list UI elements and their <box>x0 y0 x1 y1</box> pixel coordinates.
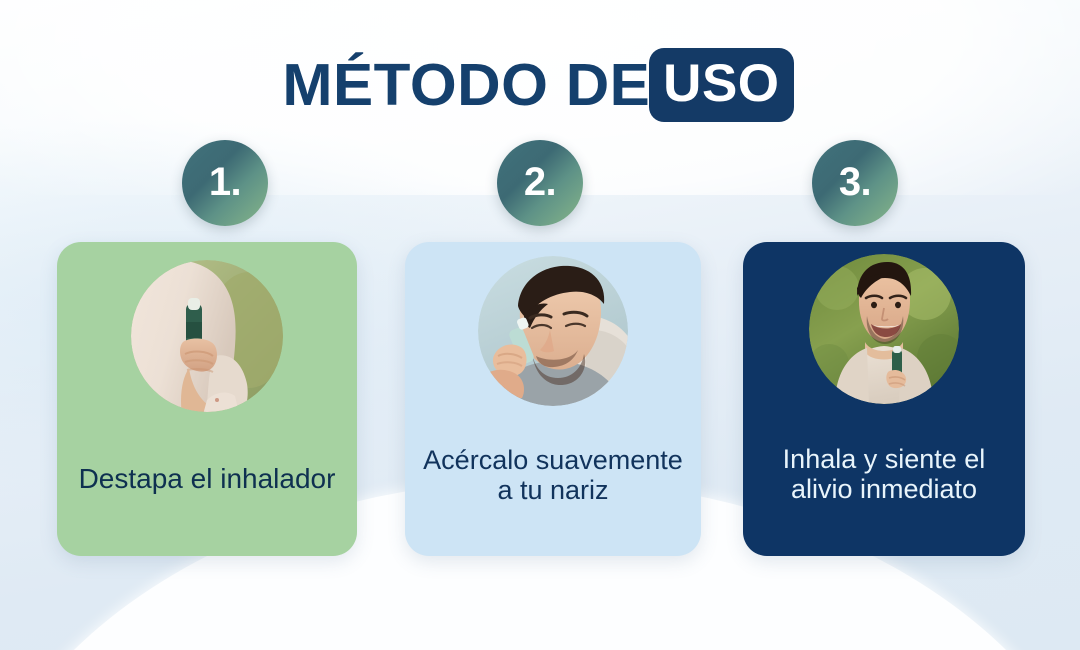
step-caption-2: Acércalo suavemente a tu nariz <box>405 406 701 556</box>
step-caption-1: Destapa el inhalador <box>65 412 350 556</box>
step-number-label-1: 1. <box>209 162 241 204</box>
step-card-1: Destapa el inhalador <box>57 242 357 556</box>
man-inhaling-photo <box>478 256 628 406</box>
infographic-canvas: MÉTODO DE USO 1. 2. 3. <box>0 0 1080 650</box>
step-number-label-2: 2. <box>524 162 556 204</box>
smiling-man-outdoors-photo <box>809 254 959 404</box>
page-title: MÉTODO DE USO <box>0 48 1080 122</box>
hand-holding-inhaler-photo <box>131 260 283 412</box>
title-badge-uso: USO <box>649 48 793 122</box>
step-card-3: Inhala y siente el alivio inmediato <box>743 242 1025 556</box>
step-number-label-3: 3. <box>839 162 871 204</box>
step-number-row: 1. 2. 3. <box>0 140 1080 230</box>
step-circle-2: 2. <box>497 140 583 226</box>
step-card-row: Destapa el inhalador <box>0 242 1080 556</box>
step-card-2: Acércalo suavemente a tu nariz <box>405 242 701 556</box>
title-main-text: MÉTODO DE <box>283 56 651 115</box>
step-circle-3: 3. <box>812 140 898 226</box>
step-circle-1: 1. <box>182 140 268 226</box>
step-caption-3: Inhala y siente el alivio inmediato <box>743 404 1025 556</box>
